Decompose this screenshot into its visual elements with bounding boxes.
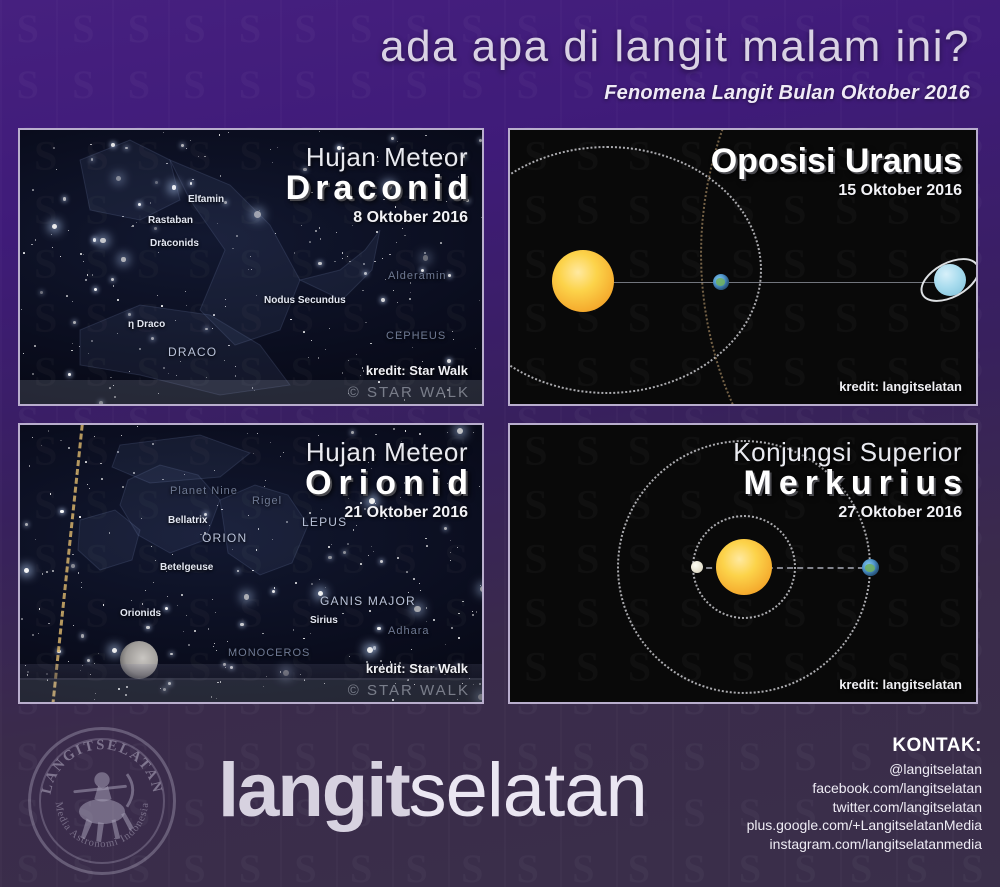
poster-header: ada apa di langit malam ini? Fenomena La… [0,0,1000,122]
seal-artwork: LANGITSELATAN #Media Astronomi Indonesia… [31,730,173,872]
panel-heading: Konjungsi Superior Merkurius 27 Oktober … [733,439,962,522]
page-title: ada apa di langit malam ini? [380,22,970,72]
panel-credit: kredit: Star Walk [366,661,468,676]
label-planet-nine: Planet Nine [170,485,238,497]
starwalk-watermark-text: © STAR WALK [348,682,470,699]
label-orion: ORION [202,531,247,545]
label-eta-draco: η Draco [128,319,165,330]
label-sirius: Sirius [310,615,338,626]
label-draconids: Draconids [150,238,199,249]
panel-pretitle: Konjungsi Superior [733,439,962,466]
contact-title: KONTAK: [747,735,982,757]
panel-title: Draconid [286,171,473,206]
contact-instagram-handle[interactable]: @langitselatan [747,760,982,779]
label-rigel: Rigel [252,495,282,507]
label-monoceros: MONOCEROS [228,647,310,659]
opposition-sightline [602,282,954,283]
label-nodus-secundus: Nodus Secundus [264,295,346,306]
label-cepheus: CEPHEUS [386,330,446,342]
panel-pretitle: Hujan Meteor [305,439,468,466]
contact-facebook[interactable]: facebook.com/langitselatan [747,779,982,798]
contact-twitter[interactable]: twitter.com/langitselatan [747,798,982,817]
earth-body [713,274,729,290]
panel-heading: Hujan Meteor Orionid 21 Oktober 2016 [305,439,468,522]
label-eltamin: Eltamin [188,194,224,205]
panel-draconid[interactable]: SSSSSSSSSSSSSSSSSSSSSSSSSSSSSSSSSSSSSSSS… [18,128,484,406]
panel-credit: kredit: langitselatan [839,379,962,394]
panel-date: 15 Oktober 2016 [711,182,962,200]
panel-oposisi-uranus[interactable]: SSSSSSSSSSSSSSSSSSSSSSSSSSSSSSSSSSSSSSSS… [508,128,978,406]
label-draco: DRACO [168,345,217,359]
label-bellatrix: Bellatrix [168,515,207,526]
starwalk-watermark-bar: © STAR WALK [20,678,482,702]
contact-gplus[interactable]: plus.google.com/+LangitselatanMedia [747,816,982,835]
panel-credit: kredit: Star Walk [366,363,468,378]
sun-body [552,250,614,312]
poster-root: SSSSSSSSSSSSSSSSSSSSSSSSSSSSSSSSSSSSSSSS… [0,0,1000,887]
langitselatan-seal-logo: LANGITSELATAN #Media Astronomi Indonesia… [28,727,176,875]
panel-credit: kredit: langitselatan [839,677,962,692]
panel-date: 27 Oktober 2016 [733,504,962,522]
panel-title: Oposisi Uranus [711,144,962,179]
panel-heading: Hujan Meteor Draconid 8 Oktober 2016 [286,144,468,227]
poster-footer: LANGITSELATAN #Media Astronomi Indonesia… [0,717,1000,887]
mercury-body [691,561,703,573]
label-canis-major: GANIS MAJOR [320,594,416,608]
page-subtitle: Fenomena Langit Bulan Oktober 2016 [604,82,970,105]
sun-body [716,539,772,595]
panel-heading: Oposisi Uranus 15 Oktober 2016 [711,144,962,200]
panel-orionid[interactable]: SSSSSSSSSSSSSSSSSSSSSSSSSSSSSSSSSSSSSSSS… [18,423,484,704]
panel-date: 21 Oktober 2016 [305,504,468,522]
wordmark-bold: langit [218,748,409,833]
starwalk-watermark-text: © STAR WALK [348,384,470,401]
label-betelgeuse: Betelgeuse [160,562,213,573]
label-adhara: Adhara [388,625,429,637]
label-alderamin: Alderamin [388,270,447,282]
panel-konjungsi-merkurius[interactable]: SSSSSSSSSSSSSSSSSSSSSSSSSSSSSSSSSSSSSSSS… [508,423,978,704]
earth-body [862,559,879,576]
panel-title: Merkurius [733,466,969,501]
wordmark-light: selatan [409,748,647,833]
label-orionids: Orionids [120,608,161,619]
starwalk-watermark-bar: © STAR WALK [20,380,482,404]
contact-block: KONTAK: @langitselatan facebook.com/lang… [747,735,982,854]
panel-title: Orionid [305,466,475,501]
label-rastaban: Rastaban [148,215,193,226]
panel-pretitle: Hujan Meteor [286,144,468,171]
panel-date: 8 Oktober 2016 [286,209,468,227]
langitselatan-wordmark: langitselatan [218,753,647,829]
contact-instagram[interactable]: instagram.com/langitselatanmedia [747,835,982,854]
